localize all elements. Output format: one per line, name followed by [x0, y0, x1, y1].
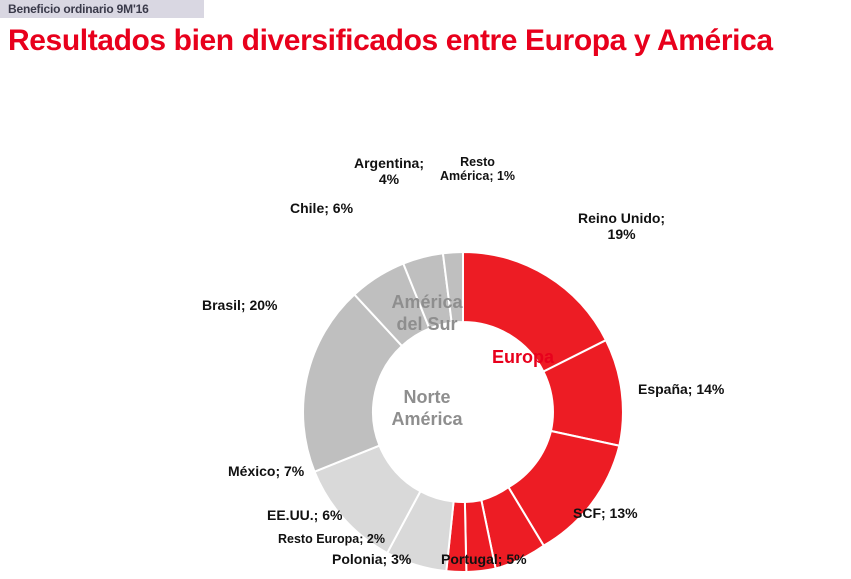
label-reino-unido-line2: 19%	[578, 226, 665, 242]
label-resto-america: Resto América; 1%	[440, 155, 515, 184]
label-argentina-line1: Argentina;	[354, 155, 424, 171]
inner-label-america-del-sur-line2: del Sur	[372, 314, 482, 336]
inner-label-europa: Europa	[478, 347, 568, 369]
donut-chart: Reino Unido; 19% España; 14% SCF; 13% Po…	[0, 95, 851, 579]
label-scf: SCF; 13%	[573, 505, 638, 521]
page-title: Resultados bien diversificados entre Eur…	[8, 24, 773, 58]
label-argentina-line2: 4%	[354, 171, 424, 187]
label-chile: Chile; 6%	[290, 200, 353, 216]
inner-label-norte-america-line2: América	[377, 409, 477, 431]
label-argentina: Argentina; 4%	[354, 155, 424, 187]
header-tag-label: Beneficio ordinario 9M'16	[8, 2, 149, 16]
inner-label-norte-america-line1: Norte	[377, 387, 477, 409]
label-brasil: Brasil; 20%	[202, 297, 277, 313]
label-resto-america-line2: América; 1%	[440, 169, 515, 183]
inner-label-america-del-sur-line1: América	[372, 292, 482, 314]
label-resto-america-line1: Resto	[440, 155, 515, 169]
label-reino-unido: Reino Unido; 19%	[578, 210, 665, 242]
label-resto-europa: Resto Europa; 2%	[278, 532, 385, 546]
label-polonia: Polonia; 3%	[332, 551, 411, 567]
label-reino-unido-line1: Reino Unido;	[578, 210, 665, 226]
label-eeuu: EE.UU.; 6%	[267, 507, 342, 523]
label-portugal: Portugal; 5%	[441, 551, 527, 567]
label-mexico: México; 7%	[228, 463, 304, 479]
label-espana: España; 14%	[638, 381, 724, 397]
inner-label-norte-america: Norte América	[377, 387, 477, 430]
donut-chart-svg	[0, 95, 851, 579]
inner-label-america-del-sur: América del Sur	[372, 292, 482, 335]
